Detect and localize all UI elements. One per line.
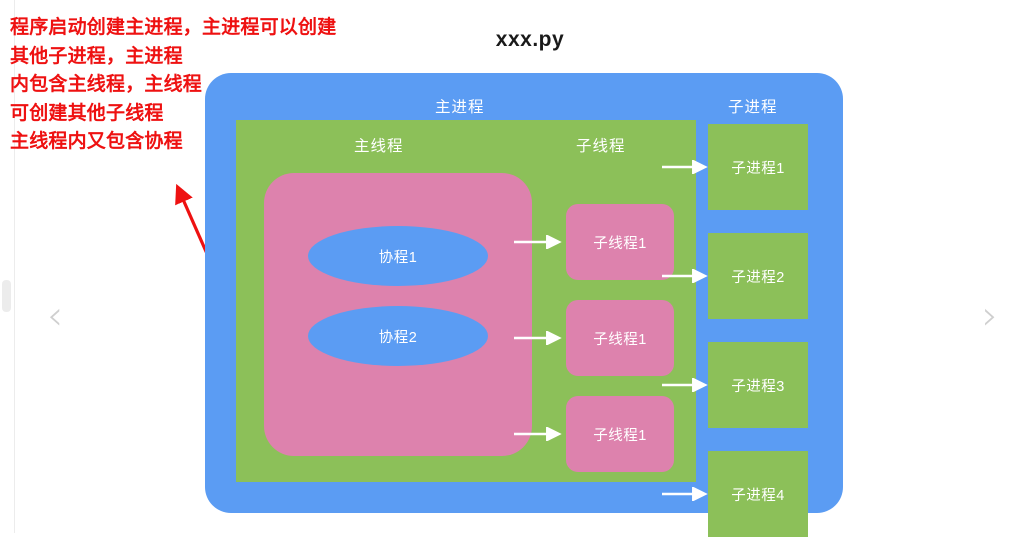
thread-connector-arrow-icon <box>514 427 566 441</box>
process-connector-arrow-icon <box>662 269 712 283</box>
main-process-container: 主进程 子进程 主线程 子线程 协程1 协程2 子线程1 子线程1 子线程1 <box>205 73 843 513</box>
main-thread-label: 主线程 <box>354 134 404 156</box>
child-process-node[interactable]: 子进程2 <box>708 233 808 319</box>
page-title: xxx.py <box>440 28 620 52</box>
main-thread-container: 主线程 子线程 协程1 协程2 子线程1 子线程1 子线程1 <box>236 120 696 482</box>
process-connector-arrow-icon <box>662 160 712 174</box>
process-connector-arrow-icon <box>662 487 712 501</box>
child-process-node[interactable]: 子进程3 <box>708 342 808 428</box>
next-slide-chevron-right-icon[interactable]: › <box>968 294 1012 338</box>
thread-connector-arrow-icon <box>514 331 566 345</box>
process-connector-arrow-icon <box>662 378 712 392</box>
coroutine-container: 协程1 协程2 <box>264 173 532 456</box>
child-thread-node[interactable]: 子线程1 <box>566 204 674 280</box>
child-thread-group-label: 子线程 <box>576 134 626 156</box>
prev-slide-chevron-left-icon[interactable]: ‹ <box>33 294 77 338</box>
child-process-group-label: 子进程 <box>728 95 778 117</box>
coroutine-node[interactable]: 协程2 <box>308 306 488 366</box>
child-thread-node[interactable]: 子线程1 <box>566 396 674 472</box>
child-thread-node[interactable]: 子线程1 <box>566 300 674 376</box>
coroutine-node[interactable]: 协程1 <box>308 226 488 286</box>
vertical-scrollbar-thumb[interactable] <box>2 280 11 312</box>
thread-connector-arrow-icon <box>514 235 566 249</box>
child-process-node[interactable]: 子进程1 <box>708 124 808 210</box>
main-process-label: 主进程 <box>435 95 485 117</box>
child-process-node[interactable]: 子进程4 <box>708 451 808 537</box>
